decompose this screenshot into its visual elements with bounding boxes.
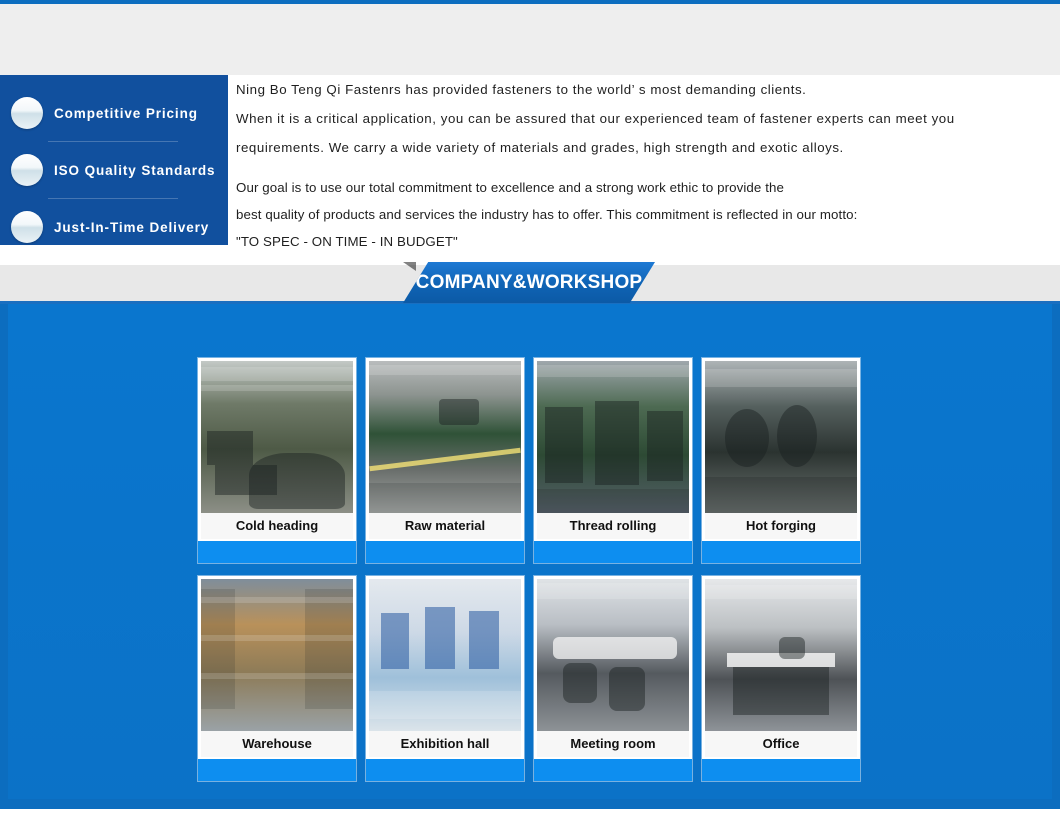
- gallery-photo: [201, 361, 353, 513]
- circle-bullet-icon: [11, 97, 43, 129]
- gallery-caption: Meeting room: [537, 731, 689, 757]
- company-workshop-gallery: Cold heading Raw material: [0, 304, 1060, 809]
- circle-bullet-icon: [11, 154, 43, 186]
- gallery-caption: Cold heading: [201, 513, 353, 539]
- feature-label: Competitive Pricing: [54, 106, 198, 121]
- gallery-card-office[interactable]: Office: [702, 576, 860, 781]
- gallery-grid: Cold heading Raw material: [198, 358, 870, 794]
- gallery-photo: [369, 361, 521, 513]
- intro-line: Our goal is to use our total commitment …: [236, 174, 1046, 201]
- feature-label: Just-In-Time Delivery: [54, 220, 209, 235]
- gallery-inner-panel: Cold heading Raw material: [8, 304, 1052, 809]
- header-gray-band: [0, 4, 1060, 75]
- section-title: COMPANY&WORKSHOP: [416, 272, 643, 294]
- intro-line: "TO SPEC - ON TIME - IN BUDGET": [236, 228, 1046, 255]
- gallery-card-footer: [198, 759, 356, 781]
- intro-paragraph-1: Ning Bo Teng Qi Fastenrs has provided fa…: [236, 75, 1046, 162]
- section-banner-strip: COMPANY&WORKSHOP: [0, 265, 1060, 304]
- gallery-card-footer: [702, 541, 860, 563]
- gallery-photo: [201, 579, 353, 731]
- feature-highlights-panel: Competitive Pricing ISO Quality Standard…: [0, 75, 228, 245]
- feature-divider: [48, 198, 178, 199]
- gallery-card-exhibition-hall[interactable]: Exhibition hall: [366, 576, 524, 781]
- intro-line: When it is a critical application, you c…: [236, 104, 1046, 133]
- gallery-card-hot-forging[interactable]: Hot forging: [702, 358, 860, 563]
- gallery-bottom-edge: [0, 799, 1060, 809]
- gallery-photo: [705, 579, 857, 731]
- gallery-card-cold-heading[interactable]: Cold heading: [198, 358, 356, 563]
- intro-paragraph-2: Our goal is to use our total commitment …: [236, 174, 1046, 255]
- intro-line: Ning Bo Teng Qi Fastenrs has provided fa…: [236, 75, 1046, 104]
- gallery-caption: Thread rolling: [537, 513, 689, 539]
- intro-section: Competitive Pricing ISO Quality Standard…: [0, 75, 1060, 265]
- gallery-caption: Exhibition hall: [369, 731, 521, 757]
- gallery-card-meeting-room[interactable]: Meeting room: [534, 576, 692, 781]
- circle-bullet-icon: [11, 211, 43, 243]
- gallery-card-warehouse[interactable]: Warehouse: [198, 576, 356, 781]
- ribbon-fold-left-icon: [403, 262, 416, 271]
- feature-label: ISO Quality Standards: [54, 163, 215, 178]
- gallery-card-footer: [702, 759, 860, 781]
- feature-item-just-in-time-delivery[interactable]: Just-In-Time Delivery: [0, 203, 228, 251]
- gallery-caption: Hot forging: [705, 513, 857, 539]
- feature-item-competitive-pricing[interactable]: Competitive Pricing: [0, 89, 228, 137]
- section-banner-ribbon: COMPANY&WORKSHOP: [403, 262, 655, 303]
- intro-text-block: Ning Bo Teng Qi Fastenrs has provided fa…: [236, 75, 1046, 267]
- gallery-card-footer: [534, 541, 692, 563]
- gallery-photo: [369, 579, 521, 731]
- gallery-caption: Warehouse: [201, 731, 353, 757]
- gallery-row: Cold heading Raw material: [198, 358, 870, 563]
- gallery-card-footer: [534, 759, 692, 781]
- feature-item-iso-quality-standards[interactable]: ISO Quality Standards: [0, 146, 228, 194]
- gallery-photo: [537, 361, 689, 513]
- gallery-photo: [537, 579, 689, 731]
- gallery-caption: Raw material: [369, 513, 521, 539]
- gallery-card-thread-rolling[interactable]: Thread rolling: [534, 358, 692, 563]
- intro-line: best quality of products and services th…: [236, 201, 1046, 228]
- intro-line: requirements. We carry a wide variety of…: [236, 133, 1046, 162]
- gallery-card-footer: [366, 759, 524, 781]
- gallery-card-raw-material[interactable]: Raw material: [366, 358, 524, 563]
- gallery-row: Warehouse Exhibition hall: [198, 576, 870, 781]
- gallery-card-footer: [198, 541, 356, 563]
- feature-divider: [48, 141, 178, 142]
- gallery-caption: Office: [705, 731, 857, 757]
- gallery-photo: [705, 361, 857, 513]
- gallery-card-footer: [366, 541, 524, 563]
